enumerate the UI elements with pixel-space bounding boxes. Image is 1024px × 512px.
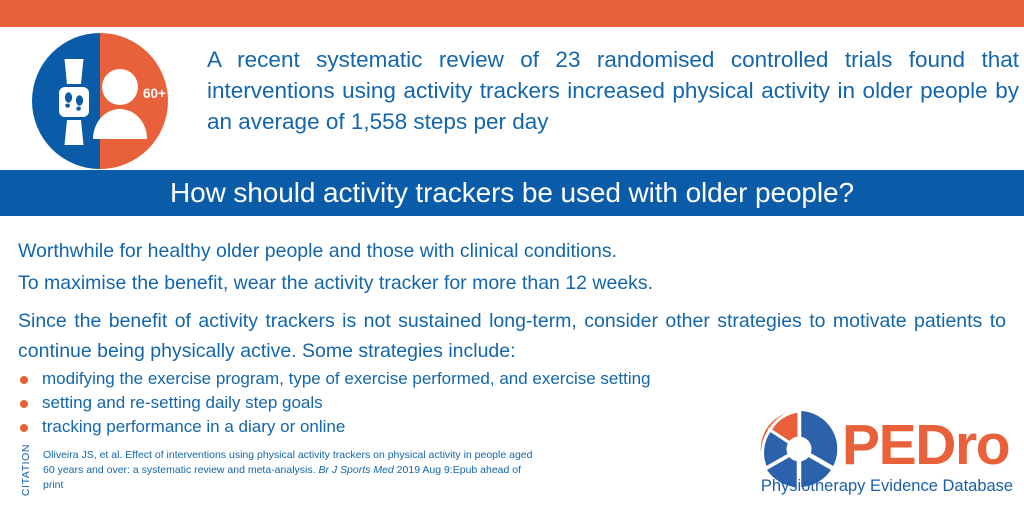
hero-section: 60+ A recent systematic review of 23 ran…	[0, 27, 1024, 170]
list-item-label: tracking performance in a diary or onlin…	[42, 417, 345, 436]
top-orange-rule	[0, 0, 1024, 27]
bullet-dot-icon	[20, 400, 28, 408]
body-paragraph-2: To maximise the benefit, wear the activi…	[18, 269, 1006, 297]
list-item: tracking performance in a diary or onlin…	[18, 416, 818, 439]
activity-tracker-older-person-logo: 60+	[30, 31, 170, 171]
pedro-tagline: Physiotherapy Evidence Database	[758, 476, 1016, 496]
key-message-text: A recent systematic review of 23 randomi…	[207, 44, 1019, 137]
body-paragraph-1: Worthwhile for healthy older people and …	[18, 237, 1006, 265]
list-item: modifying the exercise program, type of …	[18, 368, 818, 391]
bullet-dot-icon	[20, 424, 28, 432]
citation-journal: Br J Sports Med	[318, 464, 393, 476]
citation-text: Oliveira JS, et al. Effect of interventi…	[43, 448, 543, 493]
bullet-dot-icon	[20, 376, 28, 384]
list-item-label: modifying the exercise program, type of …	[42, 369, 651, 388]
pedro-logo: PEDro Physiotherapy Evidence Database	[758, 410, 1016, 506]
citation-line-1: Oliveira JS, et al. Effect of interventi…	[43, 449, 461, 461]
question-banner: How should activity trackers be used wit…	[0, 170, 1024, 216]
pedro-wordmark: PEDro	[842, 414, 1009, 476]
list-item-label: setting and re-setting daily step goals	[42, 393, 323, 412]
strategies-list: modifying the exercise program, type of …	[18, 368, 818, 440]
body-paragraph-3: Since the benefit of activity trackers i…	[18, 306, 1006, 366]
list-item: setting and re-setting daily step goals	[18, 392, 818, 415]
citation-block: CITATION Oliveira JS, et al. Effect of i…	[10, 448, 550, 508]
age-badge-label: 60+	[143, 86, 166, 101]
citation-vertical-label: CITATION	[20, 442, 32, 498]
